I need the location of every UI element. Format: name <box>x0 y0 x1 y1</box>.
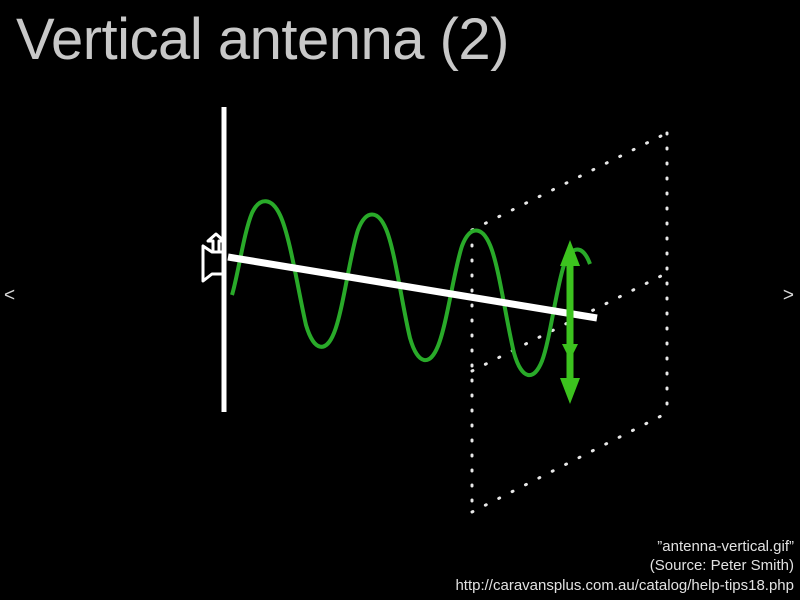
feed-point-marker <box>203 234 224 281</box>
caption-line-source: (Source: Peter Smith) <box>455 556 794 576</box>
plane-top-edge <box>472 133 667 230</box>
arrow-head-down <box>560 378 580 404</box>
figure-caption: ”antenna-vertical.gif” (Source: Peter Sm… <box>455 537 794 596</box>
propagation-axis <box>228 257 597 318</box>
arrow-head-mid <box>562 344 578 360</box>
polarization-arrow <box>560 240 580 404</box>
plane-bottom-edge <box>472 413 667 512</box>
caption-line-filename: ”antenna-vertical.gif” <box>455 537 794 557</box>
arrow-head-up <box>560 240 580 266</box>
caption-line-url: http://caravansplus.com.au/catalog/help-… <box>455 576 794 596</box>
antenna-diagram <box>0 0 800 600</box>
slide-canvas: Vertical antenna (2) < > <box>0 0 800 600</box>
